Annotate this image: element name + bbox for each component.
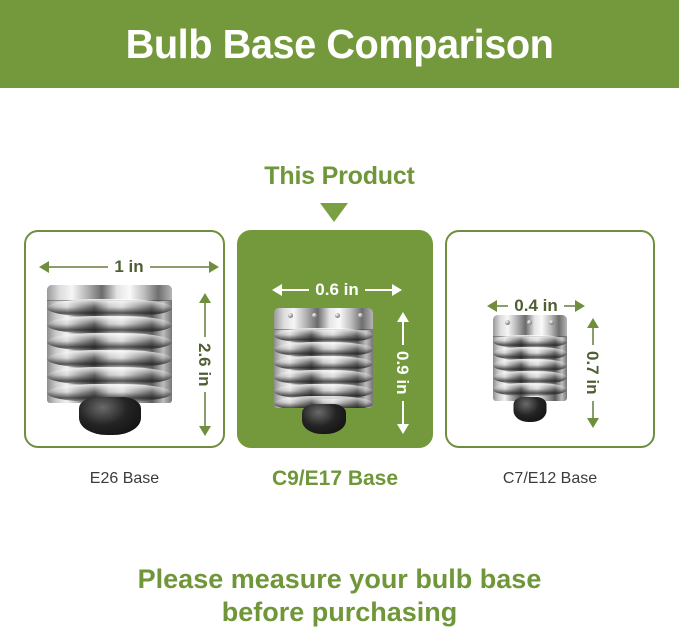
arrow-head-down-icon	[397, 424, 409, 434]
bulb-shell	[493, 315, 567, 401]
arrow-head-left-icon	[487, 300, 497, 312]
dimension-line	[402, 322, 404, 345]
collar-pin	[527, 320, 532, 325]
down-triangle-icon	[320, 203, 348, 222]
dimension-line	[204, 303, 206, 337]
bulb-image-c7e12	[493, 315, 567, 422]
thread-ridge	[274, 356, 373, 371]
footer-line-1: Please measure your bulb base	[0, 563, 679, 596]
dimension-line	[365, 289, 392, 291]
dimension-width-c7e12: 0.4 in	[487, 297, 585, 314]
bulb-shell	[274, 308, 373, 408]
dimension-line	[497, 305, 508, 307]
arrow-head-right-icon	[575, 300, 585, 312]
bulb-collar	[274, 308, 373, 330]
bulb-collar	[493, 315, 567, 337]
thread-ridge	[47, 367, 172, 385]
base-label-c7e12: C7/E12 Base	[445, 470, 655, 488]
thread-ridge	[47, 299, 172, 317]
bulb-contact-tip	[79, 397, 141, 435]
arrow-head-down-icon	[199, 426, 211, 436]
bulb-threads	[47, 299, 172, 403]
collar-pin	[358, 313, 363, 318]
base-label-e26: E26 Base	[24, 470, 225, 488]
collar-pin	[312, 313, 317, 318]
this-product-callout: This Product	[0, 162, 679, 191]
thread-ridge	[47, 350, 172, 368]
thread-ridge	[47, 316, 172, 334]
comparison-infographic: Bulb Base Comparison This Product 1 in	[0, 0, 679, 638]
collar-pin	[505, 320, 510, 325]
arrow-head-right-icon	[392, 284, 402, 296]
dimension-line	[150, 266, 209, 268]
dimension-height-c9e17: 0.9 in	[394, 312, 411, 434]
bulb-threads	[493, 335, 567, 401]
dimension-line	[402, 401, 404, 424]
header-banner: Bulb Base Comparison	[0, 0, 679, 88]
thread-ridge	[274, 342, 373, 357]
bulb-image-e26	[47, 285, 172, 435]
footer-note: Please measure your bulb base before pur…	[0, 563, 679, 629]
arrow-head-down-icon	[587, 418, 599, 428]
dimension-height-label: 0.9 in	[394, 345, 411, 400]
thread-ridge	[274, 370, 373, 385]
dimension-height-label: 2.6 in	[196, 337, 213, 392]
dimension-line	[564, 305, 575, 307]
arrow-head-up-icon	[397, 312, 409, 322]
dimension-width-label: 0.6 in	[309, 281, 364, 298]
dimension-line	[49, 266, 108, 268]
base-label-c9e17: C9/E17 Base	[237, 467, 433, 491]
bulb-image-c9e17	[274, 308, 373, 432]
bulb-contact-tip	[514, 397, 547, 422]
dimension-line	[204, 392, 206, 426]
bulb-contact-tip	[302, 404, 346, 434]
collar-pin	[288, 313, 293, 318]
thread-ridge	[493, 383, 567, 396]
bulb-threads	[274, 328, 373, 408]
collar-pin	[335, 313, 340, 318]
arrow-head-left-icon	[39, 261, 49, 273]
thread-ridge	[47, 333, 172, 351]
dimension-width-c9e17: 0.6 in	[272, 281, 402, 298]
arrow-head-up-icon	[199, 293, 211, 303]
dimension-height-e26: 2.6 in	[196, 293, 213, 436]
dimension-line	[592, 328, 594, 345]
dimension-line	[592, 401, 594, 418]
dimension-height-c7e12: 0.7 in	[584, 318, 601, 428]
thread-ridge	[274, 328, 373, 343]
bulb-shell	[47, 285, 172, 403]
dimension-line	[282, 289, 309, 291]
dimension-width-e26: 1 in	[39, 258, 219, 275]
collar-pin	[549, 320, 554, 325]
dimension-width-label: 0.4 in	[508, 297, 563, 314]
this-product-label: This Product	[264, 162, 414, 190]
arrow-head-left-icon	[272, 284, 282, 296]
arrow-head-up-icon	[587, 318, 599, 328]
dimension-width-label: 1 in	[108, 258, 149, 275]
page-title: Bulb Base Comparison	[126, 21, 554, 68]
dimension-height-label: 0.7 in	[584, 345, 601, 400]
arrow-head-right-icon	[209, 261, 219, 273]
footer-line-2: before purchasing	[0, 596, 679, 629]
